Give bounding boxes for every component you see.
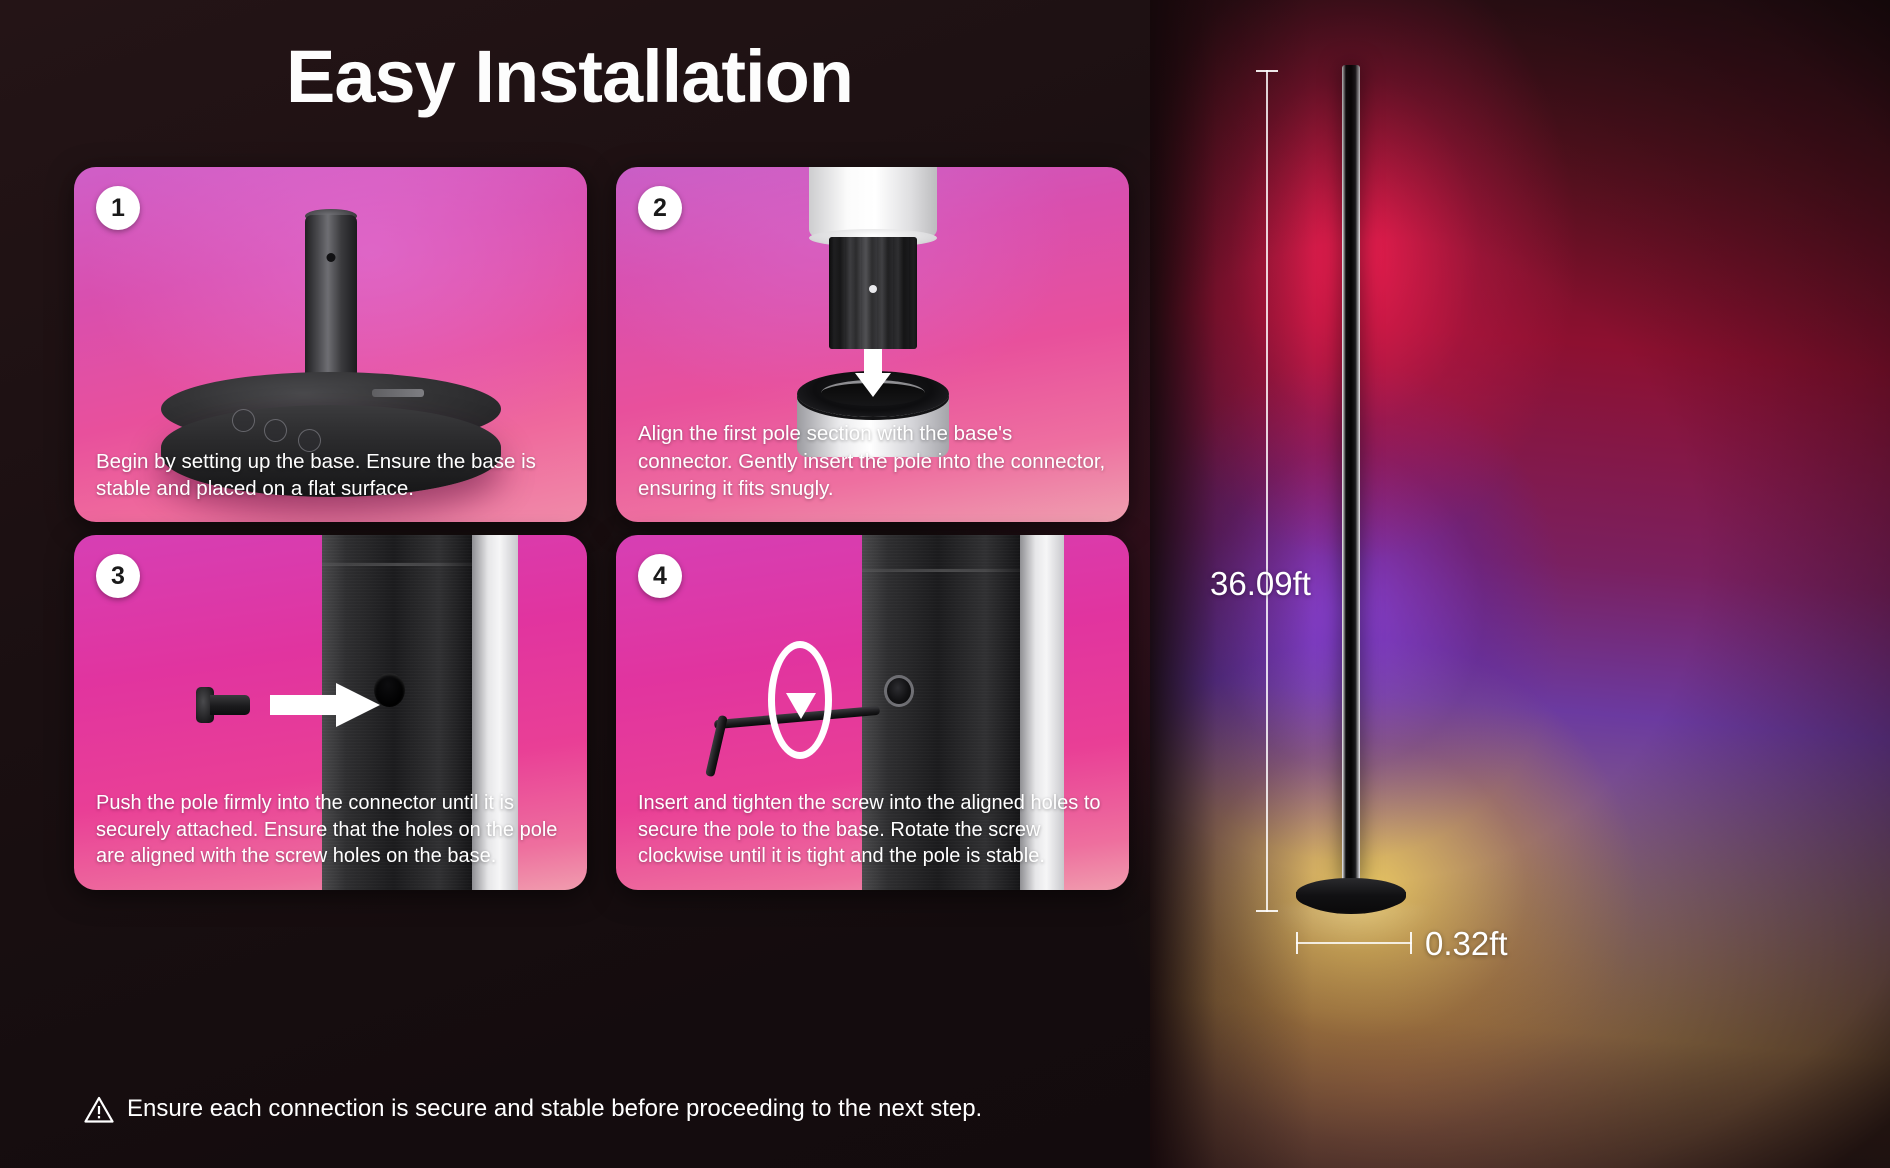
step-badge-1: 1 <box>96 186 140 230</box>
footer-note: Ensure each connection is secure and sta… <box>84 1095 982 1123</box>
step-badge-2: 2 <box>638 186 682 230</box>
width-dimension-line <box>1296 942 1412 944</box>
height-dimension-cap-top <box>1256 70 1278 72</box>
step-caption-3: Push the pole firmly into the connector … <box>74 774 587 890</box>
pole-seam-line <box>862 569 1020 572</box>
page-title: Easy Installation <box>286 40 853 114</box>
pole-screw-hole <box>884 675 914 707</box>
base-button-icon-1 <box>232 409 255 432</box>
instructions-panel: Easy Installation 1 Begin by setting up … <box>0 0 1150 1168</box>
pole-shape <box>305 215 357 395</box>
steps-grid: 1 Begin by setting up the base. Ensure t… <box>74 167 1129 890</box>
down-arrow-icon <box>855 349 891 397</box>
right-arrow-icon <box>270 683 380 727</box>
step-badge-4: 4 <box>638 554 682 598</box>
step-badge-3: 3 <box>96 554 140 598</box>
pole-seam-line <box>322 563 472 566</box>
step-card-1[interactable]: 1 Begin by setting up the base. Ensure t… <box>74 167 587 522</box>
step-caption-1: Begin by setting up the base. Ensure the… <box>74 432 587 523</box>
step-caption-4: Insert and tighten the screw into the al… <box>616 774 1129 890</box>
height-dimension-line <box>1266 70 1268 912</box>
rotation-arrowhead-icon <box>786 693 816 719</box>
screw-shaft-shape <box>210 695 250 715</box>
warning-triangle-icon <box>84 1096 114 1123</box>
pole-hole-dot <box>326 253 335 262</box>
product-hero: 36.09ft 0.32ft <box>1150 0 1890 1168</box>
allen-key-short-arm <box>705 715 728 777</box>
installation-infographic: Easy Installation 1 Begin by setting up … <box>0 0 1890 1168</box>
height-dimension-cap-bottom <box>1256 910 1278 912</box>
height-dimension-label: 36.09ft <box>1210 565 1311 603</box>
connector-shading <box>829 237 917 349</box>
width-dimension-cap-right <box>1410 932 1412 954</box>
width-dimension-cap-left <box>1296 932 1298 954</box>
connector-hole-dot <box>869 285 877 293</box>
step-card-3[interactable]: 3 Push the pole firmly into the connecto… <box>74 535 587 890</box>
step-caption-2: Align the first pole section with the ba… <box>616 404 1129 522</box>
width-dimension-label: 0.32ft <box>1425 925 1508 963</box>
base-slot-shape <box>372 389 424 397</box>
footer-note-text: Ensure each connection is secure and sta… <box>127 1095 982 1123</box>
step-card-4[interactable]: 4 Insert and tighten the screw into the … <box>616 535 1129 890</box>
step-card-2[interactable]: 2 Align the first pole section with the … <box>616 167 1129 522</box>
white-cylinder-shape <box>809 167 937 237</box>
